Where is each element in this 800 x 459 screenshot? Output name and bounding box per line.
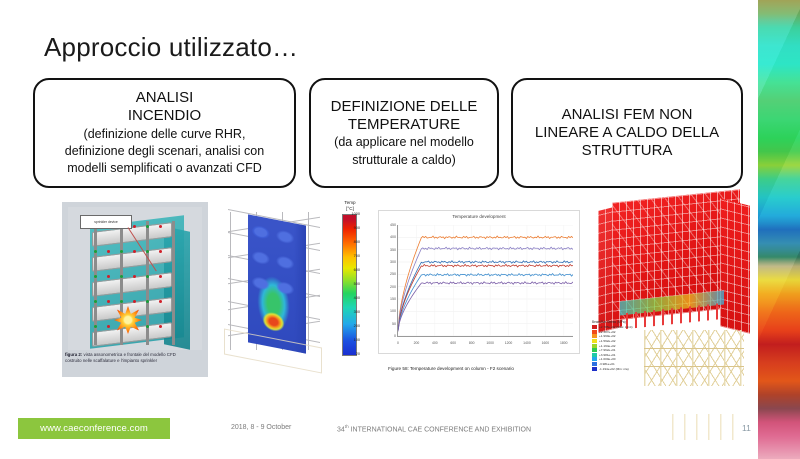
chart-x-tick: 1800 [560,341,568,345]
chart-series-line [398,247,573,331]
box2-sub-line2: strutturale a caldo) [352,153,456,168]
box2-heading-line2: TEMPERATURE [348,116,460,134]
cfd-sensor-dot [133,225,136,228]
colorbar-tick: 200 [347,324,360,328]
fem-legend-row: -1.194e+02 (Min: n/a) [592,366,648,371]
cfd-sensor-dot [146,250,149,253]
chart-plot-area: Temperature development 0501001502002503… [378,210,580,354]
chart-y-tick: 200 [381,285,396,289]
fem-legend-swatch [592,367,597,371]
colorbar-tick: 800 [347,240,360,244]
process-box-analisi-fem[interactable]: ANALISI FEM NON LINEARE A CALDO DELLA ST… [511,78,743,188]
box1-sub-line1: (definizione delle curve RHR, [84,127,246,142]
cfd-slice-rack-frame [226,208,322,348]
cfd-model-panel: sprinkler device [68,207,202,350]
brand-color-strip [758,0,800,459]
chart-series-svg [398,225,573,336]
figure-cfd-slice-plane [218,198,330,374]
colorbar-tick: 400 [347,296,360,300]
fem-legend-title: Beam/Bar Stress (MPa) [592,320,648,324]
figure-fem-structure: Beam/Bar Stress (MPa) +2.785e+02 (Max: L… [592,192,752,388]
fem-stress-legend: Beam/Bar Stress (MPa) +2.785e+02 (Max: L… [592,320,648,371]
figure1-caption-bold: figura 2: [65,352,82,357]
fem-legend-row-group: +2.785e+02 (Max: Limit)+2.387e+02+1.990e… [592,325,648,371]
conference-date: 2018, 8 - 9 October [231,424,291,431]
cfd-sensor-dot [107,325,110,328]
cfd-sensor-dot [146,275,149,278]
fem-legend-value: +2.785e+02 (Max: Limit) [599,325,633,329]
process-box-definizione-temperature[interactable]: DEFINIZIONE DELLE TEMPERATURE (da applic… [309,78,499,188]
cfd-sensor-dot [159,275,162,278]
fem-legend-value: +2.387e+02 [599,330,616,334]
chart-x-tick: 0 [397,341,399,345]
chart-x-tick: 400 [432,341,438,345]
fem-legend-swatch [592,330,597,334]
box3-heading-line2: LINEARE A CALDO DELLA [535,124,719,142]
fem-undeformed-frame [644,330,744,386]
fem-legend-swatch [592,334,597,338]
colorbar-tick: 100 [347,338,360,342]
slide: Approccio utilizzato… ANALISI INCENDIO (… [0,0,800,459]
chart-y-tick: 350 [381,248,396,252]
chart-x-tick: 1200 [505,341,513,345]
cfd-sensor-dot [120,300,123,303]
box2-sub-line1: (da applicare nel modello [334,135,474,150]
chart-series-line [398,261,573,331]
fem-legend-swatch [592,348,597,352]
colorbar-tick: 500 [347,282,360,286]
fire-source-icon [114,306,142,334]
slide-page-number: 11 [742,423,751,433]
temperature-slice-plane [248,214,306,353]
chart-series-line [398,274,573,331]
fem-legend-value: -3.981e+01 [599,362,615,366]
cfd-sensor-dot [94,325,97,328]
process-box-analisi-incendio[interactable]: ANALISI INCENDIO (definizione delle curv… [33,78,296,188]
chart-y-tick: 150 [381,297,396,301]
footer-decorative-marks [672,414,734,440]
rack-line [308,212,309,350]
fem-legend-value: +1.000e+00 [599,357,616,361]
fem-legend-value: -1.194e+02 (Min: n/a) [599,367,629,371]
fem-right-wall [720,198,750,333]
chart-x-tick: 600 [450,341,456,345]
fem-legend-value: +3.981e+01 [599,353,616,357]
chart-x-tick: 200 [414,341,420,345]
chart-y-tick: 250 [381,272,396,276]
conference-website-label: www.caeconference.com [40,423,148,434]
fem-legend-value: +1.592e+02 [599,339,616,343]
page-title: Approccio utilizzato… [44,32,298,63]
fem-legend-value: +7.962e+01 [599,348,616,352]
fem-legend-swatch [592,325,597,329]
figure1-caption-line1: vista assonometrica e frontale del model… [82,352,175,357]
colorbar-tick: 600 [347,268,360,272]
chart-x-tick: 800 [469,341,475,345]
fem-legend-swatch [592,339,597,343]
chart-caption: Figure 58: Temperature development on co… [356,366,546,371]
fem-legend-swatch [592,357,597,361]
colorbar-tick: 1000 [347,212,360,216]
chart-y-tick: 0 [381,334,396,338]
cfd-sensor-dot [107,275,110,278]
colorbar-tick-group: 100090080070060050040030020010020 [356,198,378,358]
cfd-sensor-dot [94,250,97,253]
chart-y-tick: 100 [381,309,396,313]
fem-legend-swatch [592,353,597,357]
fem-legend-value: +1.990e+02 [599,334,616,338]
cfd-sensor-dot [159,225,162,228]
fem-legend-swatch [592,362,597,366]
cfd-sensor-dot [159,300,162,303]
cfd-sensor-dot [146,225,149,228]
box1-heading-line1: ANALISI [136,89,194,107]
box1-sub-line3: modelli semplificati o avanzati CFD [67,161,262,176]
conference-name: 34th INTERNATIONAL CAE CONFERENCE AND EX… [337,424,531,433]
cfd-sensor-dot [146,325,149,328]
chart-y-tick: 450 [381,223,396,227]
figure-cfd-rack-model: sprinkler device figura 2: vista assonom… [62,202,208,377]
figure1-caption: figura 2: vista assonometrica e frontale… [65,352,205,364]
figure-temperature-chart: Temp[°C] 1000900800700600500400300200100… [336,198,584,370]
box2-heading-line1: DEFINIZIONE DELLE [331,98,478,116]
cfd-sensor-dot [133,275,136,278]
chart-y-tick: 400 [381,235,396,239]
chart-x-tick: 1600 [542,341,550,345]
cfd-sensor-dot [120,275,123,278]
cfd-sensor-dot [94,300,97,303]
chart-y-tick: 300 [381,260,396,264]
chart-axes: 0501001502002503003504004500200400600800… [397,225,573,337]
box1-heading-line2: INCENDIO [128,107,201,125]
chart-x-tick: 1000 [486,341,494,345]
cfd-post [172,221,175,345]
chart-y-tick: 50 [381,322,396,326]
cfd-sensor-dot [133,250,136,253]
box1-sub-line2: definizione degli scenari, analisi con [65,144,264,159]
cfd-sensor-dot [133,300,136,303]
cfd-sensor-dot [107,250,110,253]
cfd-sensor-dot [159,325,162,328]
chart-x-tick: 1400 [523,341,531,345]
cfd-sensor-dot [120,250,123,253]
fem-legend-swatch [592,344,597,348]
colorbar-tick: 20 [347,352,360,356]
cfd-sensor-dot [107,300,110,303]
sprinkler-callout-label: sprinkler device [80,215,132,229]
figure1-caption-line2: costruito nelle scaffalature e l'impiant… [65,358,157,363]
box3-heading-line3: STRUTTURA [582,142,673,160]
colorbar-tick: 900 [347,226,360,230]
cfd-sensor-dot [159,250,162,253]
colorbar-tick: 700 [347,254,360,258]
conference-website-badge[interactable]: www.caeconference.com [18,418,170,439]
colorbar-tick: 300 [347,310,360,314]
cfd-sensor-dot [146,300,149,303]
fem-legend-value: +1.194e+02 [599,344,616,348]
box3-heading-line1: ANALISI FEM NON [562,106,693,124]
chart-title: Temperature development [379,214,579,219]
cfd-sensor-dot [94,275,97,278]
